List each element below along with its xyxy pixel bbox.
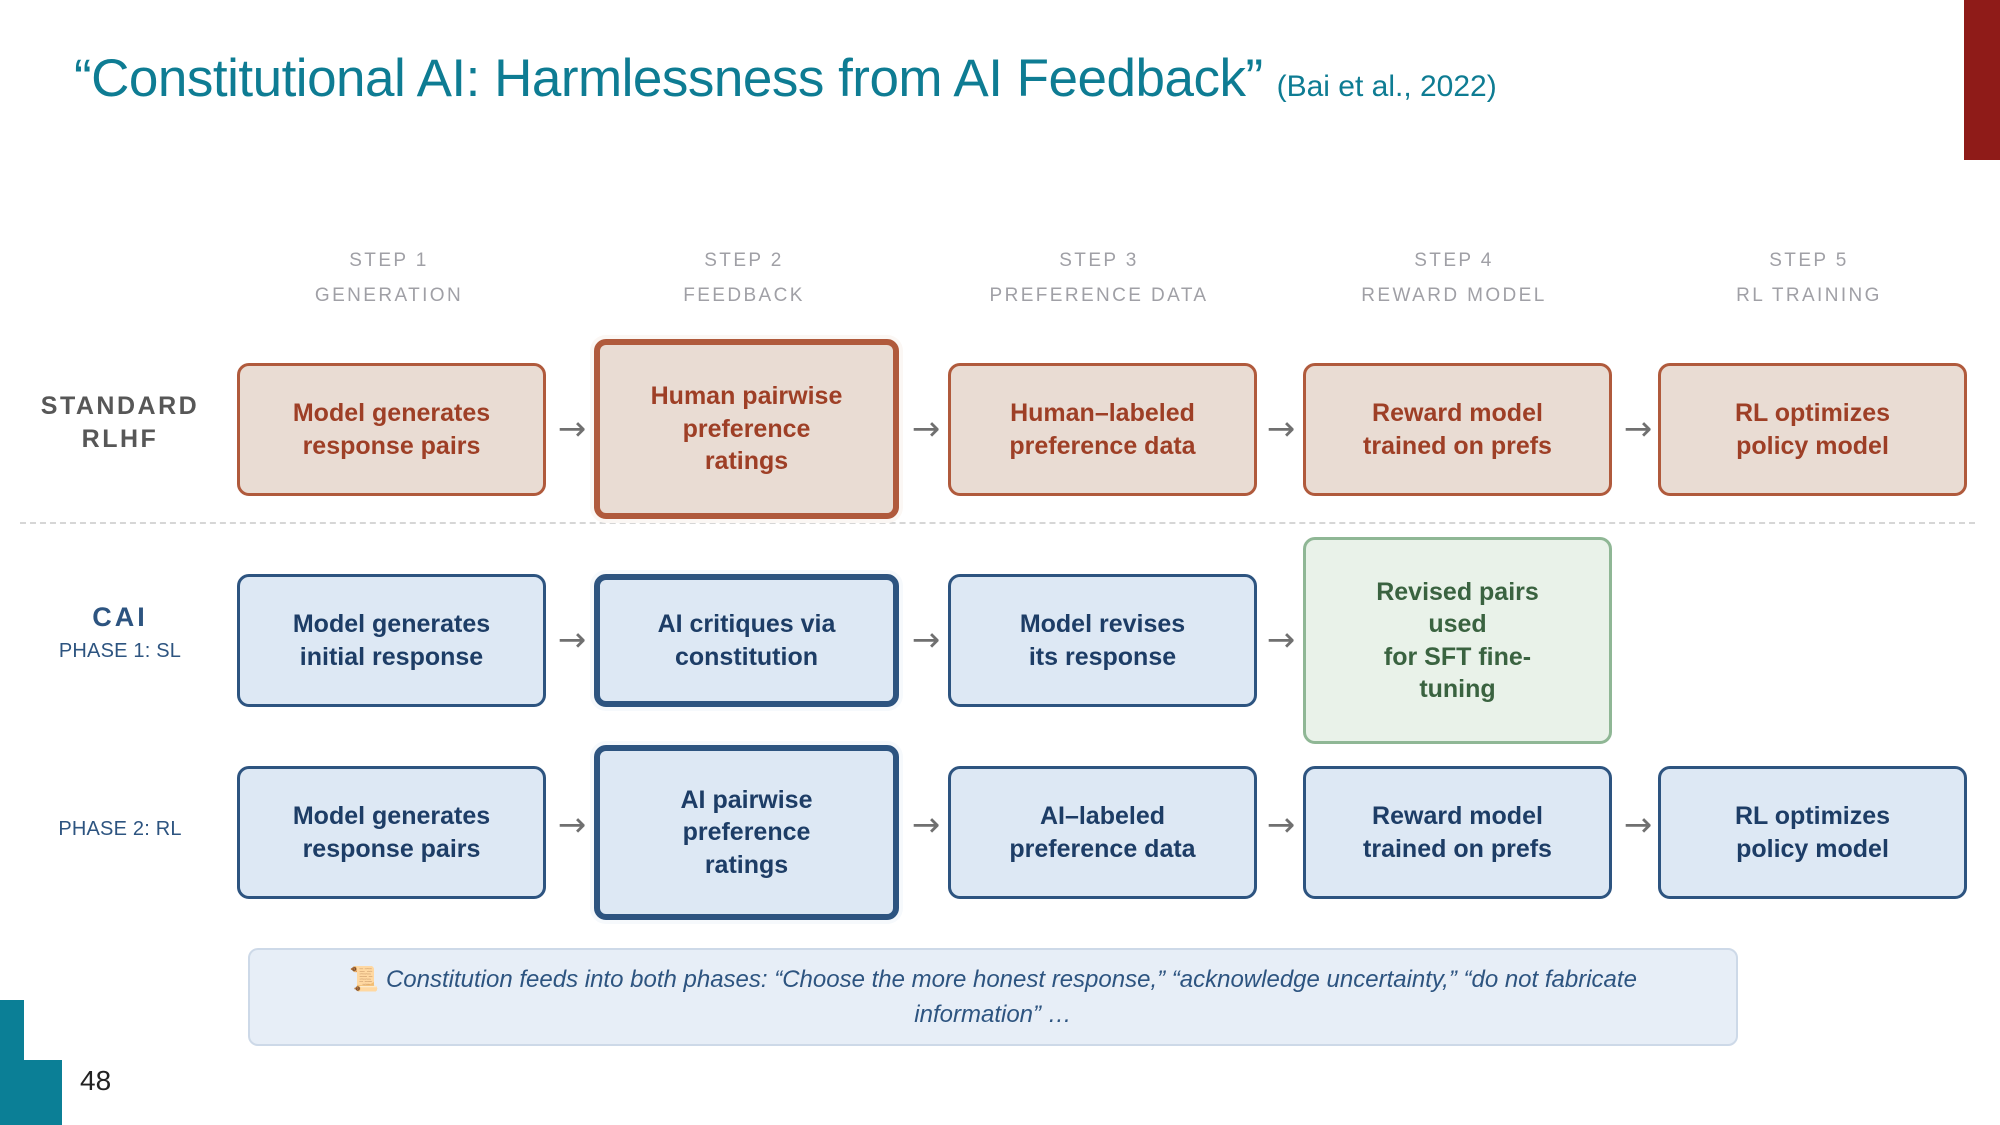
cai-phase1-arrow-2: →: [903, 623, 949, 657]
cai-phase2-box-step3[interactable]: AI–labeledpreference data: [948, 766, 1257, 899]
cai-phase2-box-step2[interactable]: AI pairwisepreferenceratings: [594, 745, 899, 920]
scroll-icon: 📜: [349, 965, 379, 993]
constitution-callout-text: 📜Constitution feeds into both phases: “C…: [284, 962, 1702, 1033]
rlhf-arrow-4: →: [1615, 412, 1661, 446]
row-label-standard-rlhf: STANDARD RLHF: [5, 390, 235, 457]
rlhf-box-step5[interactable]: RL optimizespolicy model: [1658, 363, 1967, 496]
step-number: STEP 1: [239, 250, 539, 272]
cai-phase2-box-step4[interactable]: Reward modeltrained on prefs: [1303, 766, 1612, 899]
rlhf-box-step3[interactable]: Human–labeledpreference data: [948, 363, 1257, 496]
cai-phase2-arrow-2: →: [903, 808, 949, 842]
constitution-callout: 📜Constitution feeds into both phases: “C…: [248, 948, 1738, 1046]
row-label-line1: CAI: [5, 602, 235, 633]
step-name: GENERATION: [239, 285, 539, 307]
step-column-4: STEP 4 REWARD MODEL: [1304, 250, 1604, 307]
step-header-row: STEP 1 GENERATION STEP 2 FEEDBACK STEP 3…: [0, 250, 2000, 314]
step-name: RL TRAINING: [1659, 285, 1959, 307]
step-name: REWARD MODEL: [1304, 285, 1604, 307]
rlhf-box-step2[interactable]: Human pairwisepreferenceratings: [594, 339, 899, 519]
top-right-accent-bar: [1964, 0, 2000, 160]
row-label-line2: PHASE 1: SL: [5, 640, 235, 663]
rlhf-arrow-3: →: [1258, 412, 1304, 446]
rlhf-arrow-2: →: [903, 412, 949, 446]
title-citation: (Bai et al., 2022): [1277, 70, 1497, 103]
row-label-line2: PHASE 2: RL: [5, 818, 235, 841]
cai-phase1-box-step2[interactable]: AI critiques viaconstitution: [594, 574, 899, 707]
cai-phase2-arrow-1: →: [549, 808, 595, 842]
rlhf-arrow-1: →: [549, 412, 595, 446]
step-name: PREFERENCE DATA: [949, 285, 1249, 307]
section-divider: [20, 522, 1975, 524]
cai-phase2-arrow-3: →: [1258, 808, 1304, 842]
step-number: STEP 4: [1304, 250, 1604, 272]
cai-phase1-arrow-3: →: [1258, 623, 1304, 657]
bottom-left-accent-bar-wide: [0, 1060, 62, 1125]
step-column-3: STEP 3 PREFERENCE DATA: [949, 250, 1249, 307]
row-label-cai-phase2: PHASE 2: RL: [5, 818, 235, 841]
step-column-1: STEP 1 GENERATION: [239, 250, 539, 307]
step-number: STEP 5: [1659, 250, 1959, 272]
cai-phase1-arrow-1: →: [549, 623, 595, 657]
row-label-cai-phase1: CAI PHASE 1: SL: [5, 602, 235, 663]
constitution-callout-body: Constitution feeds into both phases: “Ch…: [386, 966, 1637, 1028]
row-label-line1: STANDARD: [5, 390, 235, 423]
step-column-2: STEP 2 FEEDBACK: [594, 250, 894, 307]
page-number: 48: [80, 1065, 111, 1097]
slide: “Constitutional AI: Harmlessness from AI…: [0, 0, 2000, 1125]
title-text: “Constitutional AI: Harmlessness from AI…: [74, 49, 1263, 108]
rlhf-box-step4[interactable]: Reward modeltrained on prefs: [1303, 363, 1612, 496]
slide-title: “Constitutional AI: Harmlessness from AI…: [74, 48, 1497, 109]
cai-phase2-box-step5[interactable]: RL optimizespolicy model: [1658, 766, 1967, 899]
cai-phase1-box-step1[interactable]: Model generatesinitial response: [237, 574, 546, 707]
step-number: STEP 2: [594, 250, 894, 272]
cai-phase2-box-step1[interactable]: Model generatesresponse pairs: [237, 766, 546, 899]
cai-phase2-arrow-4: →: [1615, 808, 1661, 842]
step-number: STEP 3: [949, 250, 1249, 272]
row-label-line2: RLHF: [5, 423, 235, 456]
rlhf-box-step1[interactable]: Model generatesresponse pairs: [237, 363, 546, 496]
step-name: FEEDBACK: [594, 285, 894, 307]
cai-phase1-box-step4[interactable]: Revised pairsusedfor SFT fine-tuning: [1303, 537, 1612, 744]
step-column-5: STEP 5 RL TRAINING: [1659, 250, 1959, 307]
cai-phase1-box-step3[interactable]: Model revisesits response: [948, 574, 1257, 707]
